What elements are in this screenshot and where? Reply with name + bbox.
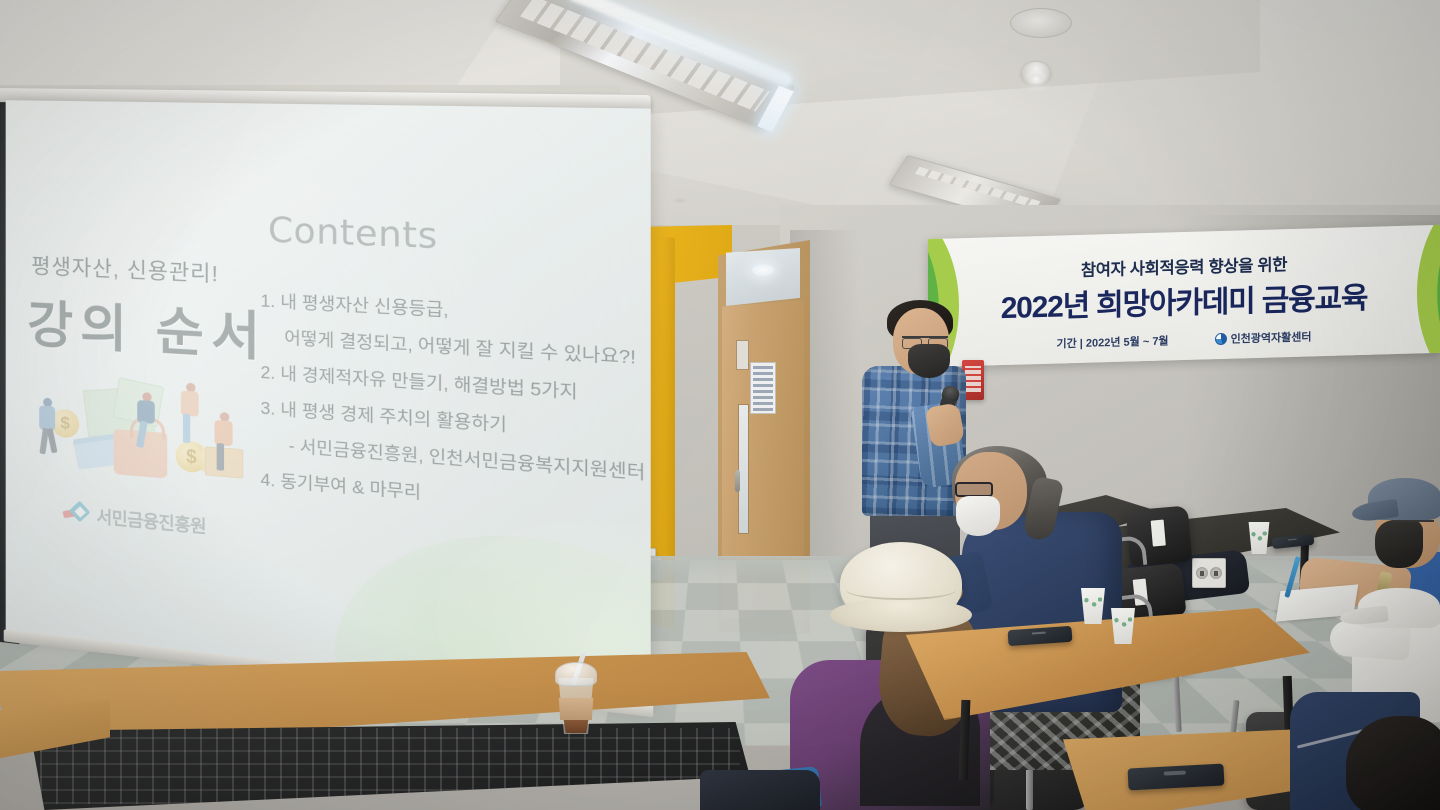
door-glass-strip bbox=[738, 404, 749, 534]
slide-organization-logo: 서민금융진흥원 bbox=[63, 498, 206, 538]
ceiling-speaker-icon bbox=[1010, 8, 1072, 38]
illustration-coin: $ bbox=[51, 408, 79, 438]
slide-logo-text: 서민금융진흥원 bbox=[96, 502, 206, 538]
slide-contents-heading: Contents bbox=[268, 209, 438, 257]
glasses-icon bbox=[955, 482, 993, 497]
slide-illustration: $ $ $ bbox=[33, 371, 252, 501]
ceiling-vent-dot bbox=[672, 197, 688, 204]
door-plate bbox=[736, 340, 749, 370]
dark-bag-front bbox=[700, 770, 820, 810]
face-mask-icon bbox=[956, 496, 1000, 536]
slide-title: 강의 순서 bbox=[27, 284, 268, 371]
hat-band bbox=[846, 580, 956, 600]
projected-slide: Contents 평생자산, 신용관리! 강의 순서 1. 내 평생자산 신용등… bbox=[6, 100, 651, 706]
face-mask-icon bbox=[908, 344, 950, 378]
slide-subtitle: 평생자산, 신용관리! bbox=[31, 250, 219, 289]
door-transom-window bbox=[726, 248, 800, 306]
iced-coffee-cup[interactable] bbox=[552, 656, 600, 734]
wall-outlet-back[interactable] bbox=[1192, 558, 1226, 588]
projection-screen-assembly: Contents 평생자산, 신용관리! 강의 순서 1. 내 평생자산 신용등… bbox=[0, 88, 663, 727]
cup-sleeve bbox=[558, 698, 594, 720]
seminar-room-photo: 2022 참여자 사회적응력 향상을 위한 bbox=[0, 0, 1440, 810]
organization-logo-icon bbox=[1215, 333, 1227, 345]
illustration-money-stack bbox=[205, 446, 243, 478]
door-notice-poster bbox=[750, 362, 776, 414]
fire-sprinkler-icon bbox=[1022, 62, 1050, 84]
dome-lid bbox=[555, 662, 597, 686]
door-handle[interactable] bbox=[735, 470, 740, 492]
banner-organization: 인천광역자활센터 bbox=[1215, 328, 1312, 347]
event-banner: 참여자 사회적응력 향상을 위한 2022년 희망아카데미 금융교육 기간 | … bbox=[928, 225, 1440, 367]
kinfa-logo-icon bbox=[63, 500, 89, 525]
slide-agenda-list: 1. 내 평생자산 신용등급, 어떻게 결정되고, 어떻게 잘 지킬 수 있나요… bbox=[260, 289, 640, 537]
glasses-icon bbox=[1392, 520, 1434, 530]
corridor-light-glow bbox=[752, 264, 774, 276]
organization-name: 인천광역자활센터 bbox=[1231, 328, 1312, 346]
attendee-dark-hair bbox=[1346, 716, 1440, 810]
table-front-modesty-panel bbox=[30, 722, 750, 810]
banner-period: 기간 | 2022년 5월 ~ 7월 bbox=[1056, 332, 1168, 351]
